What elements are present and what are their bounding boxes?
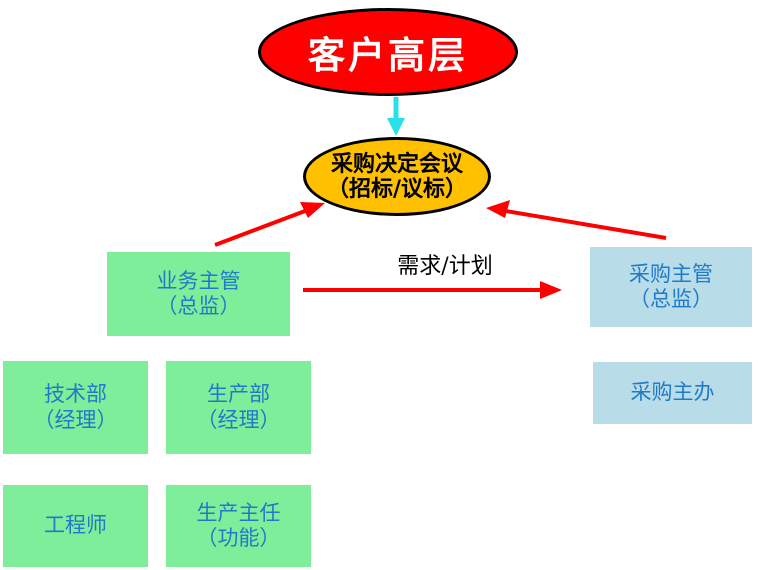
node-tech-department-line1: 技术部 xyxy=(44,382,107,407)
node-tech-department-line2: （经理） xyxy=(34,408,118,433)
node-purchase-decision-meeting[interactable]: 采购决定会议 （招标/议标） xyxy=(303,137,491,216)
edge-label-demand-plan: 需求/计划 xyxy=(355,248,535,280)
node-tech-department[interactable]: 技术部 （经理） xyxy=(3,361,148,454)
node-engineer[interactable]: 工程师 xyxy=(3,485,148,567)
node-purchasing-executor-line1: 采购主办 xyxy=(631,380,715,405)
node-purchase-decision-meeting-line1: 采购决定会议 xyxy=(331,152,463,177)
arrow-purchasing-to-decision xyxy=(486,200,666,238)
node-purchasing-director-line2: （总监） xyxy=(629,287,713,312)
node-business-director-line2: （总监） xyxy=(157,294,241,319)
arrow-demand-plan xyxy=(303,281,562,299)
node-purchasing-executor[interactable]: 采购主办 xyxy=(593,362,752,424)
node-engineer-line1: 工程师 xyxy=(44,513,107,538)
arrow-top-to-decision xyxy=(387,97,405,136)
node-customer-executive-label: 客户高层 xyxy=(308,25,468,79)
node-production-department-line2: （经理） xyxy=(197,408,281,433)
node-purchase-decision-meeting-line2: （招标/议标） xyxy=(327,177,467,202)
node-production-chief-line1: 生产主任 xyxy=(197,501,281,526)
node-production-chief[interactable]: 生产主任 （功能） xyxy=(166,485,311,567)
node-production-department[interactable]: 生产部 （经理） xyxy=(166,361,311,454)
node-production-chief-line2: （功能） xyxy=(197,526,281,551)
node-production-department-line1: 生产部 xyxy=(207,382,270,407)
arrow-business-to-decision xyxy=(215,202,325,245)
node-business-director[interactable]: 业务主管 （总监） xyxy=(107,252,290,336)
node-customer-executive[interactable]: 客户高层 xyxy=(258,8,518,96)
diagram-canvas: 客户高层 采购决定会议 （招标/议标） 需求/计划 业务主管 （总监） 采购主管… xyxy=(0,0,773,570)
node-business-director-line1: 业务主管 xyxy=(157,269,241,294)
node-purchasing-director[interactable]: 采购主管 （总监） xyxy=(590,247,752,327)
node-purchasing-director-line1: 采购主管 xyxy=(629,262,713,287)
